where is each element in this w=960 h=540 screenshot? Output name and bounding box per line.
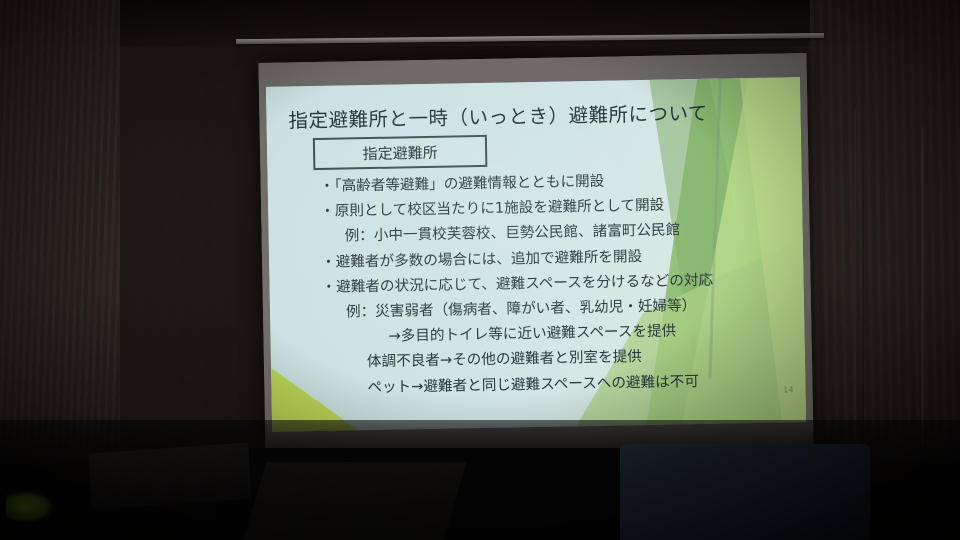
door-frame-edge xyxy=(921,128,924,458)
chair-back xyxy=(620,444,870,540)
green-indicator-light xyxy=(6,492,52,522)
presentation-slide: 指定避難所と一時（いっとき）避難所について 指定避難所 ・「高齢者等避難」の避難… xyxy=(266,77,806,432)
slide-page-number: 14 xyxy=(783,385,793,394)
laptop-lid xyxy=(88,442,252,509)
slide-section-box-label: 指定避難所 xyxy=(362,141,437,163)
projector-screen: 指定避難所と一時（いっとき）避難所について 指定避難所 ・「高齢者等避難」の避難… xyxy=(258,53,813,455)
slide-body-lines: ・「高齢者等避難」の避難情報とともに開設・原則として校区当たりに1施設を避難所と… xyxy=(268,165,806,402)
projection-room-photo: 指定避難所と一時（いっとき）避難所について 指定避難所 ・「高齢者等避難」の避難… xyxy=(0,0,960,540)
screen-surface: 指定避難所と一時（いっとき）避難所について 指定避難所 ・「高齢者等避難」の避難… xyxy=(258,53,813,455)
laptop xyxy=(244,462,466,540)
slide-content: 指定避難所と一時（いっとき）避難所について 指定避難所 ・「高齢者等避難」の避難… xyxy=(266,77,806,432)
slide-title: 指定避難所と一時（いっとき）避難所について xyxy=(288,97,708,134)
slide-section-box: 指定避難所 xyxy=(313,135,488,170)
